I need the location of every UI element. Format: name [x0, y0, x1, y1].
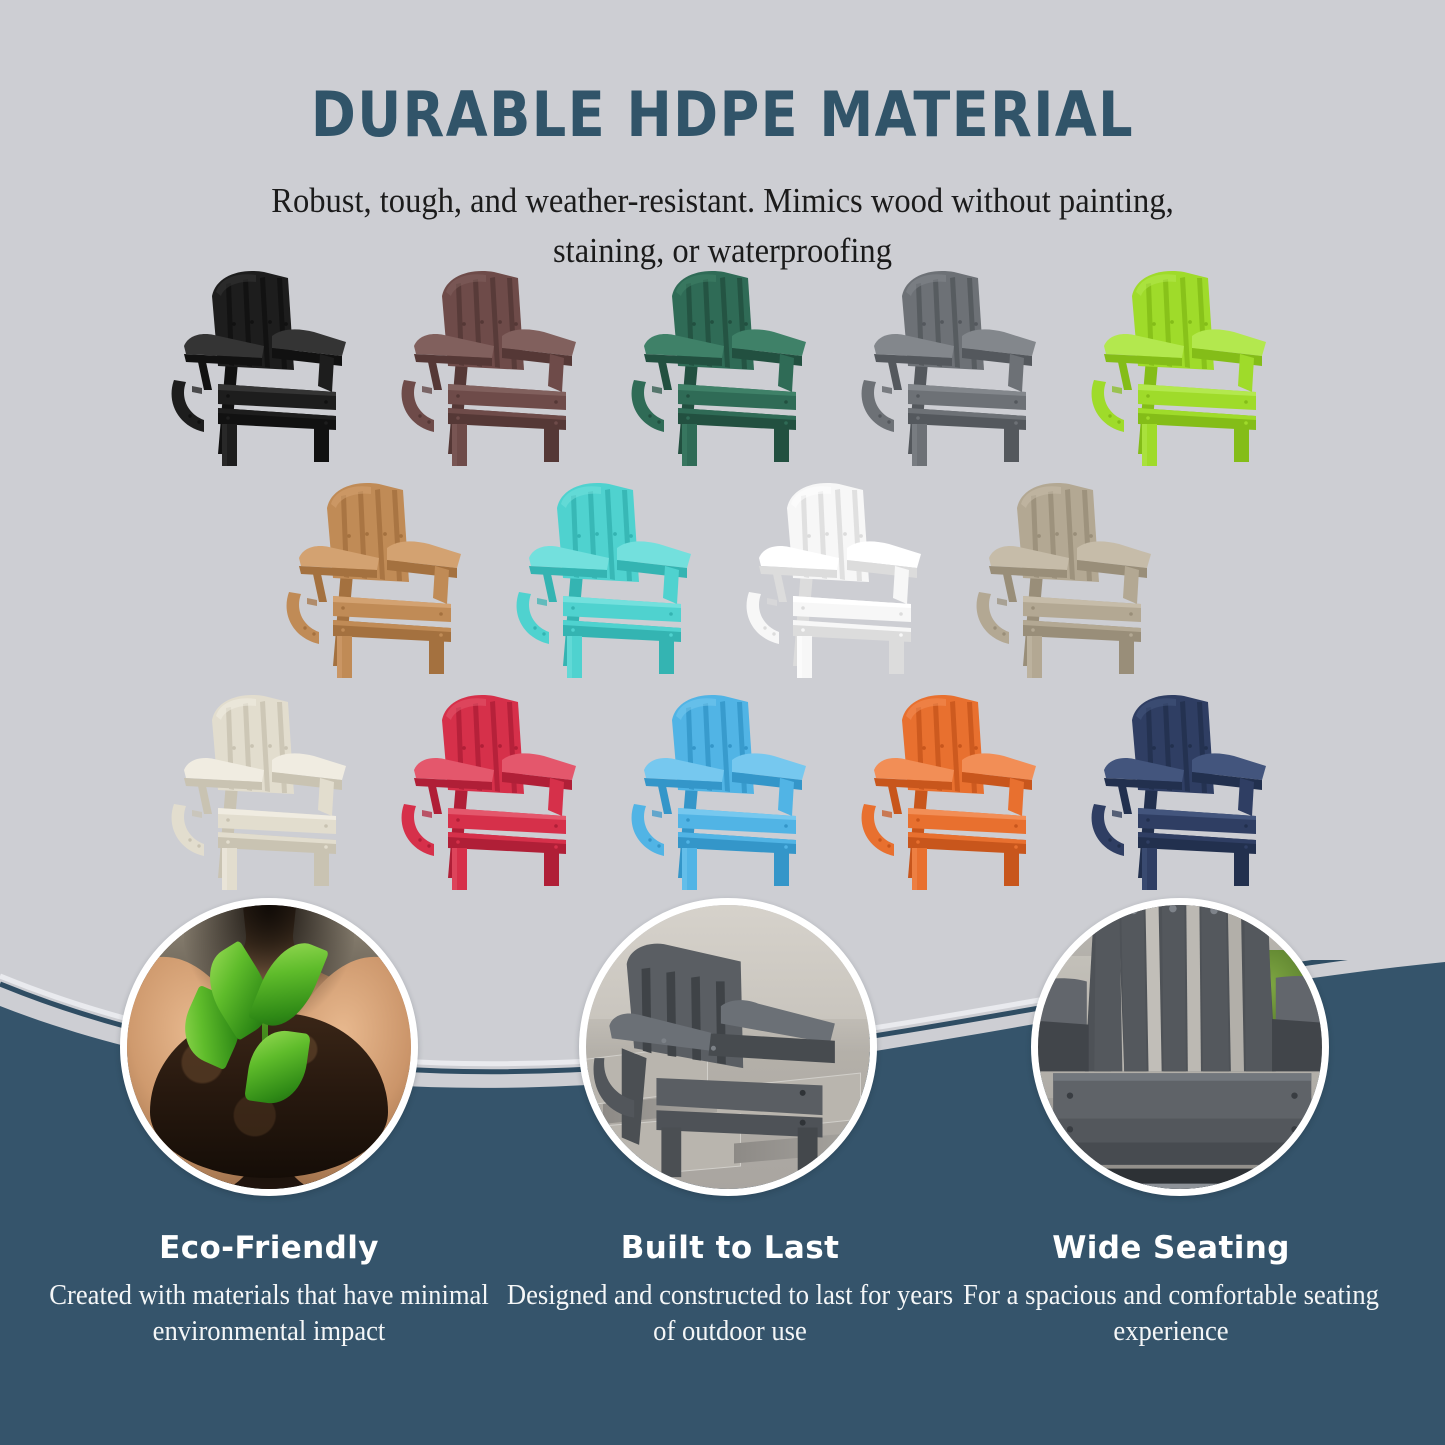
chair-row-2: [0, 478, 1445, 690]
feature-wide-seating: Wide Seating For a spacious and comforta…: [936, 1230, 1406, 1351]
dark-green-chair-graphic: [628, 266, 818, 466]
chair-row-1: [0, 266, 1445, 478]
chair-row-3: [0, 690, 1445, 902]
feature-captions: Eco-Friendly Created with materials that…: [0, 1230, 1445, 1400]
seat-closeup-illustration: [1038, 905, 1322, 1189]
gray-chair-graphic: [858, 266, 1048, 466]
orange-chair: [838, 690, 1068, 902]
brown-chair-graphic: [398, 266, 588, 466]
feature-built-to-last: Built to Last Designed and constructed t…: [495, 1230, 965, 1351]
gray-chair-on-patio-photo: [579, 898, 877, 1196]
feature-body: For a spacious and comfortable seating e…: [948, 1278, 1395, 1351]
white-chair: [723, 478, 953, 690]
chair-color-grid: [0, 266, 1445, 916]
feature-photo-circles: [0, 890, 1445, 1220]
feature-title: Eco-Friendly: [34, 1230, 504, 1266]
red-chair-graphic: [398, 690, 588, 890]
ivory-chair-graphic: [168, 690, 358, 890]
red-chair: [378, 690, 608, 902]
turquoise-chair-graphic: [513, 478, 703, 678]
beige-chair-graphic: [973, 478, 1163, 678]
page-subtitle: Robust, tough, and weather-resistant. Mi…: [227, 176, 1217, 275]
black-chair: [148, 266, 378, 478]
brown-chair: [378, 266, 608, 478]
feature-eco-friendly: Eco-Friendly Created with materials that…: [34, 1230, 504, 1351]
wide-seat-closeup-photo: [1031, 898, 1329, 1196]
hands-holding-seedling-photo: [120, 898, 418, 1196]
light-blue-chair: [608, 690, 838, 902]
turquoise-chair: [493, 478, 723, 690]
dark-green-chair: [608, 266, 838, 478]
beige-chair: [953, 478, 1183, 690]
navy-blue-chair: [1068, 690, 1298, 902]
feature-title: Built to Last: [495, 1230, 965, 1266]
light-blue-chair-graphic: [628, 690, 818, 890]
feature-body: Designed and constructed to last for yea…: [507, 1278, 954, 1351]
lime-green-chair: [1068, 266, 1298, 478]
feature-body: Created with materials that have minimal…: [46, 1278, 493, 1351]
lime-green-chair-graphic: [1088, 266, 1278, 466]
teak-brown-chair-graphic: [283, 478, 473, 678]
ivory-chair: [148, 690, 378, 902]
white-chair-graphic: [743, 478, 933, 678]
infographic-canvas: DURABLE HDPE MATERIAL Robust, tough, and…: [0, 0, 1445, 1445]
gray-chair: [838, 266, 1068, 478]
teak-brown-chair: [263, 478, 493, 690]
navy-blue-chair-graphic: [1088, 690, 1278, 890]
black-chair-graphic: [168, 266, 358, 466]
orange-chair-graphic: [858, 690, 1048, 890]
patio-chair-illustration: [592, 916, 865, 1183]
feature-title: Wide Seating: [936, 1230, 1406, 1266]
page-title: DURABLE HDPE MATERIAL: [22, 78, 1424, 151]
